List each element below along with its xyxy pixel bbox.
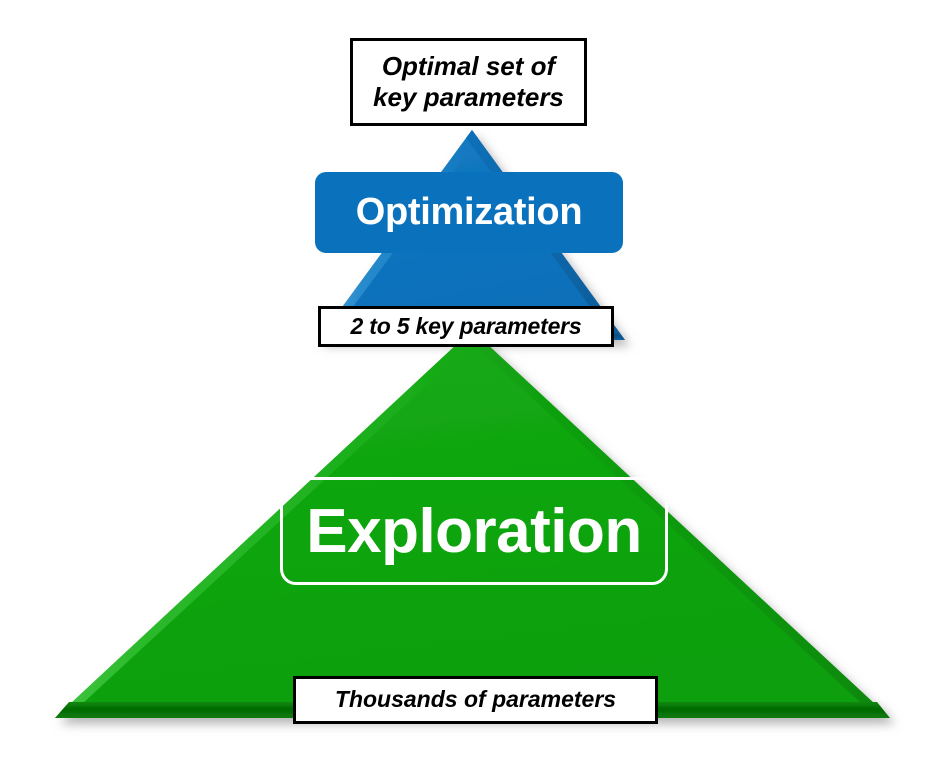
bottom-annotation-box: Thousands of parameters <box>293 676 658 724</box>
optimization-banner[interactable]: Optimization <box>315 172 623 253</box>
top-annotation-line2: key parameters <box>373 82 564 113</box>
bottom-annotation-text: Thousands of parameters <box>335 686 616 713</box>
top-annotation-box: Optimal set of key parameters <box>350 38 587 126</box>
exploration-banner[interactable]: Exploration <box>280 477 668 585</box>
middle-annotation-box: 2 to 5 key parameters <box>318 306 614 347</box>
diagram-canvas: Optimization Exploration Optimal set of … <box>0 0 935 758</box>
top-annotation-line1: Optimal set of <box>382 51 555 82</box>
middle-annotation-text: 2 to 5 key parameters <box>350 313 581 340</box>
exploration-banner-label: Exploration <box>306 496 642 567</box>
optimization-banner-label: Optimization <box>356 191 583 234</box>
